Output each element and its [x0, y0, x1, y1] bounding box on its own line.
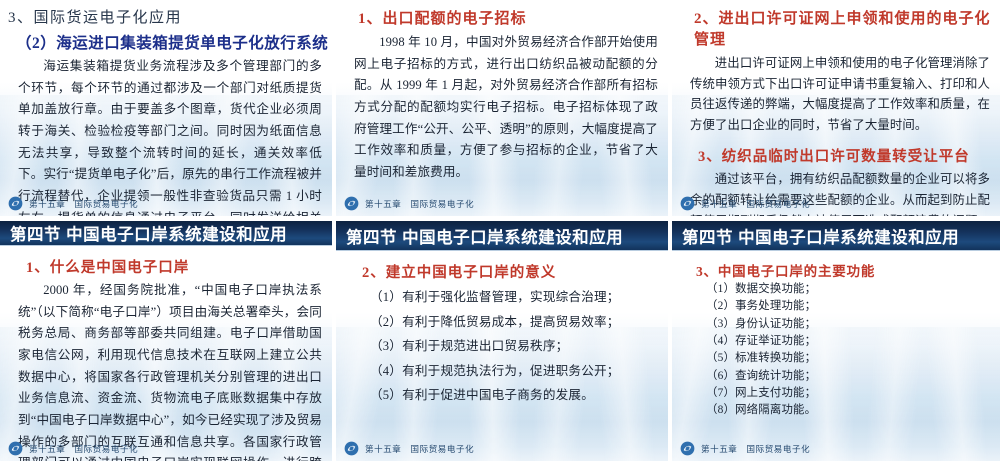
slide-5-list: （1）有利于强化监督管理，实现综合治理； （2）有利于降低贸易成本，提高贸易效率… [336, 285, 668, 408]
list-item: （5）标准转换功能； [706, 350, 992, 367]
slide-5-footer: 第十五章 国际贸易电子化 [336, 441, 474, 456]
list-item: （2）事务处理功能； [706, 298, 992, 315]
list-item: （7）网上支付功能； [706, 385, 992, 402]
list-item: （1）有利于强化监督管理，实现综合治理； [370, 285, 660, 310]
slide-5-title: 第四节 中国电子口岸系统建设和应用 [346, 224, 623, 248]
slide-6-list: （1）数据交换功能； （2）事务处理功能； （3）身份认证功能； （4）存证举证… [672, 281, 1000, 420]
slide-3-footer-label: 第十五章 国际贸易电子化 [701, 198, 810, 210]
slide-2-heading: 1、出口配额的电子招标 [336, 0, 668, 32]
swirl-logo-icon [344, 196, 359, 211]
slide-6-content: 3、中国电子口岸的主要功能 （1）数据交换功能； （2）事务处理功能； （3）身… [672, 251, 1000, 461]
slide-5[interactable]: 第四节 中国电子口岸系统建设和应用 2、建立中国电子口岸的意义 （1）有利于强化… [336, 221, 668, 461]
swirl-logo-icon [344, 441, 359, 456]
list-item: （8）网络隔离功能。 [706, 402, 992, 419]
slide-2-paragraph: 1998 年 10 月，中国对外贸易经济合作部开始使用网上电子招标的方式，进行出… [336, 32, 668, 184]
slide-4-content: 1、什么是中国电子口岸 2000 年，经国务院批准，“中国电子口岸执法系统”（以… [0, 246, 332, 461]
slide-4[interactable]: 第四节 中国电子口岸系统建设和应用 1、什么是中国电子口岸 2000 年，经国务… [0, 221, 332, 461]
slide-5-content: 2、建立中国电子口岸的意义 （1）有利于强化监督管理，实现综合治理； （2）有利… [336, 251, 668, 461]
slide-1-footer-label: 第十五章 国际贸易电子化 [29, 198, 138, 210]
slide-3[interactable]: 2、进出口许可证网上申领和使用的电子化管理 进出口许可证网上申领和使用的电子化管… [672, 0, 1000, 216]
swirl-logo-icon [680, 441, 695, 456]
slide-1-heading-blue: （2）海运进口集装箱提货单电子化放行系统 [0, 29, 332, 56]
slide-1-paragraph: 海运集装箱提货业务流程涉及多个管理部门的多个环节，每个环节的通过都涉及一个部门对… [0, 56, 332, 216]
slide-3-footer: 第十五章 国际贸易电子化 [672, 196, 810, 211]
slide-grid: 3、国际货运电子化应用 （2）海运进口集装箱提货单电子化放行系统 海运集装箱提货… [0, 0, 1000, 461]
slide-3-heading-2: 3、纺织品临时出口许可数量转受让平台 [672, 135, 1000, 169]
swirl-logo-icon [680, 196, 695, 211]
slide-6-footer-label: 第十五章 国际贸易电子化 [701, 443, 810, 455]
list-item: （4）有利于规范执法行为，促进职务公开； [370, 359, 660, 384]
slide-1[interactable]: 3、国际货运电子化应用 （2）海运进口集装箱提货单电子化放行系统 海运集装箱提货… [0, 0, 332, 216]
slide-4-footer: 第十五章 国际贸易电子化 [0, 441, 138, 456]
slide-2-footer-label: 第十五章 国际贸易电子化 [365, 198, 474, 210]
slide-2-footer: 第十五章 国际贸易电子化 [336, 196, 474, 211]
slide-5-title-bar: 第四节 中国电子口岸系统建设和应用 [336, 221, 668, 251]
slide-6-title-bar: 第四节 中国电子口岸系统建设和应用 [672, 221, 1000, 251]
slide-6[interactable]: 第四节 中国电子口岸系统建设和应用 3、中国电子口岸的主要功能 （1）数据交换功… [672, 221, 1000, 461]
slide-3-heading-1: 2、进出口许可证网上申领和使用的电子化管理 [672, 0, 1000, 53]
list-item: （2）有利于降低贸易成本，提高贸易效率； [370, 310, 660, 335]
slide-3-content: 2、进出口许可证网上申领和使用的电子化管理 进出口许可证网上申领和使用的电子化管… [672, 0, 1000, 216]
list-item: （3）身份认证功能； [706, 316, 992, 333]
slide-1-content: 3、国际货运电子化应用 （2）海运进口集装箱提货单电子化放行系统 海运集装箱提货… [0, 0, 332, 216]
slide-4-title-bar: 第四节 中国电子口岸系统建设和应用 [0, 221, 332, 246]
list-item: （3）有利于规范进出口贸易秩序； [370, 334, 660, 359]
list-item: （6）查询统计功能； [706, 368, 992, 385]
list-item: （4）存证举证功能； [706, 333, 992, 350]
slide-5-heading: 2、建立中国电子口岸的意义 [336, 251, 668, 285]
slide-4-footer-label: 第十五章 国际贸易电子化 [29, 443, 138, 455]
slide-6-title: 第四节 中国电子口岸系统建设和应用 [682, 224, 959, 248]
slide-4-paragraph: 2000 年，经国务院批准，“中国电子口岸执法系统”（以下简称“电子口岸”）项目… [0, 280, 332, 461]
slide-6-footer: 第十五章 国际贸易电子化 [672, 441, 810, 456]
slide-2-content: 1、出口配额的电子招标 1998 年 10 月，中国对外贸易经济合作部开始使用网… [336, 0, 668, 216]
slide-2[interactable]: 1、出口配额的电子招标 1998 年 10 月，中国对外贸易经济合作部开始使用网… [336, 0, 668, 216]
slide-1-heading-black: 3、国际货运电子化应用 [0, 0, 332, 29]
swirl-logo-icon [8, 196, 23, 211]
swirl-logo-icon [8, 441, 23, 456]
slide-1-footer: 第十五章 国际贸易电子化 [0, 196, 138, 211]
slide-4-heading: 1、什么是中国电子口岸 [0, 246, 332, 280]
slide-4-title: 第四节 中国电子口岸系统建设和应用 [10, 221, 287, 245]
slide-5-footer-label: 第十五章 国际贸易电子化 [365, 443, 474, 455]
list-item: （1）数据交换功能； [706, 281, 992, 298]
list-item: （5）有利于促进中国电子商务的发展。 [370, 383, 660, 408]
slide-6-heading: 3、中国电子口岸的主要功能 [672, 251, 1000, 281]
slide-3-paragraph-1: 进出口许可证网上申领和使用的电子化管理消除了传统申领方式下出口许可证申请书重复输… [672, 53, 1000, 135]
